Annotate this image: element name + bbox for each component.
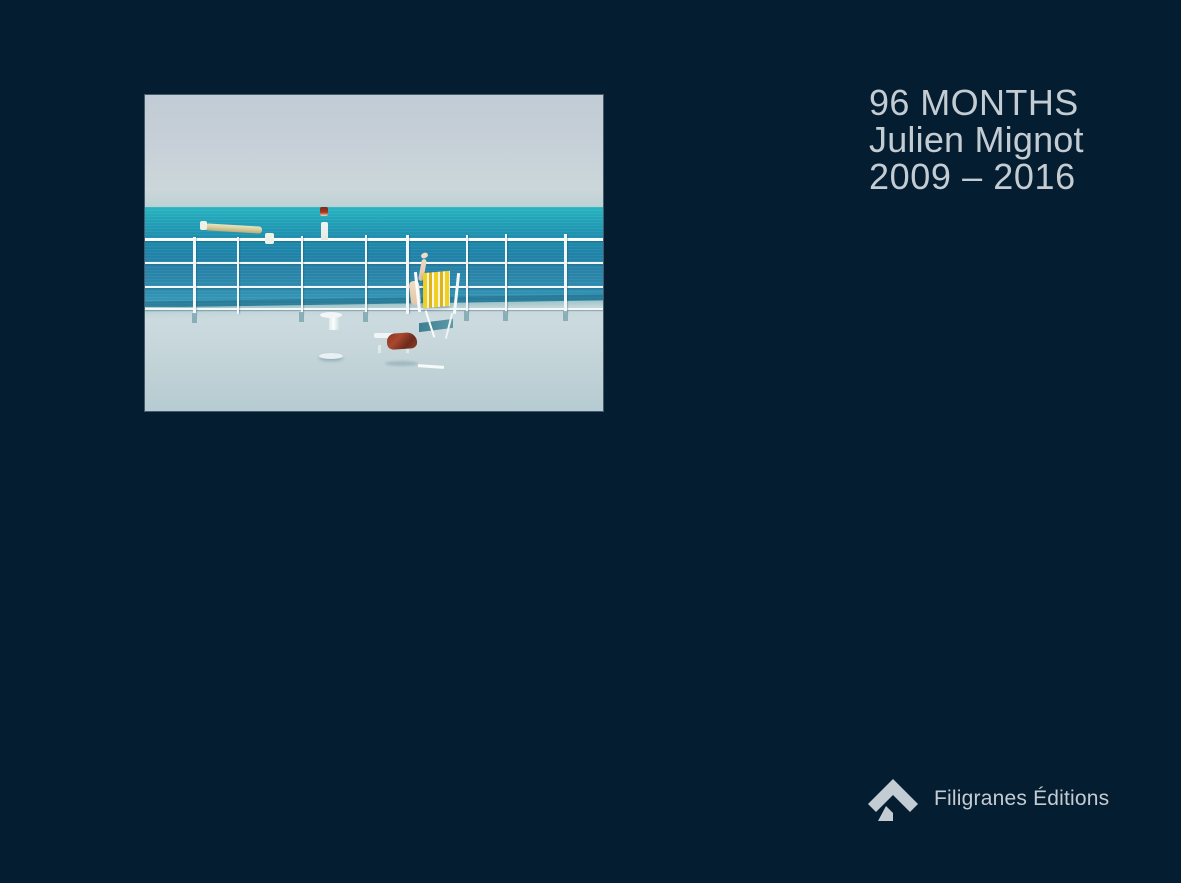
cover-photograph <box>145 95 603 411</box>
photo-stool-leg <box>378 345 381 353</box>
photo-bollard-top <box>320 312 342 318</box>
photo-deck-railing <box>145 95 603 411</box>
page-title: 96 MONTHS <box>869 84 1169 121</box>
date-range: 2009 – 2016 <box>869 158 1169 195</box>
photo-bollard-body <box>329 317 339 330</box>
railing-rail-4 <box>145 308 603 310</box>
railing-post <box>564 234 567 314</box>
railing-rail-2 <box>145 262 603 264</box>
railing-foot <box>299 312 304 322</box>
book-cover: 96 MONTHS Julien Mignot 2009 – 2016 Fili… <box>0 0 1181 883</box>
railing-foot <box>192 313 197 323</box>
publisher-block: Filigranes Éditions <box>866 777 1109 821</box>
photo-boom-cap-left <box>200 221 207 230</box>
railing-rail-top <box>145 238 603 241</box>
photo-mast <box>321 222 328 240</box>
railing-post <box>505 234 508 313</box>
railing-post <box>365 235 368 313</box>
railing-rail-3 <box>145 286 603 288</box>
chevron-logo-icon <box>866 777 920 821</box>
railing-post <box>237 237 240 315</box>
publisher-name: Filigranes Éditions <box>934 787 1109 811</box>
photo-red-bag <box>386 332 417 350</box>
author-name: Julien Mignot <box>869 121 1169 158</box>
railing-foot <box>563 311 568 321</box>
railing-foot <box>464 311 469 321</box>
railing-post <box>301 236 304 314</box>
photo-mast-lamp <box>320 207 328 216</box>
photo-chair-backrest <box>424 271 451 308</box>
railing-post <box>406 235 409 314</box>
railing-post <box>193 237 196 314</box>
photo-boom-cap-right <box>265 233 274 244</box>
railing-foot <box>503 311 508 321</box>
railing-post <box>466 235 469 314</box>
title-block: 96 MONTHS Julien Mignot 2009 – 2016 <box>869 84 1169 195</box>
railing-foot <box>363 312 368 322</box>
